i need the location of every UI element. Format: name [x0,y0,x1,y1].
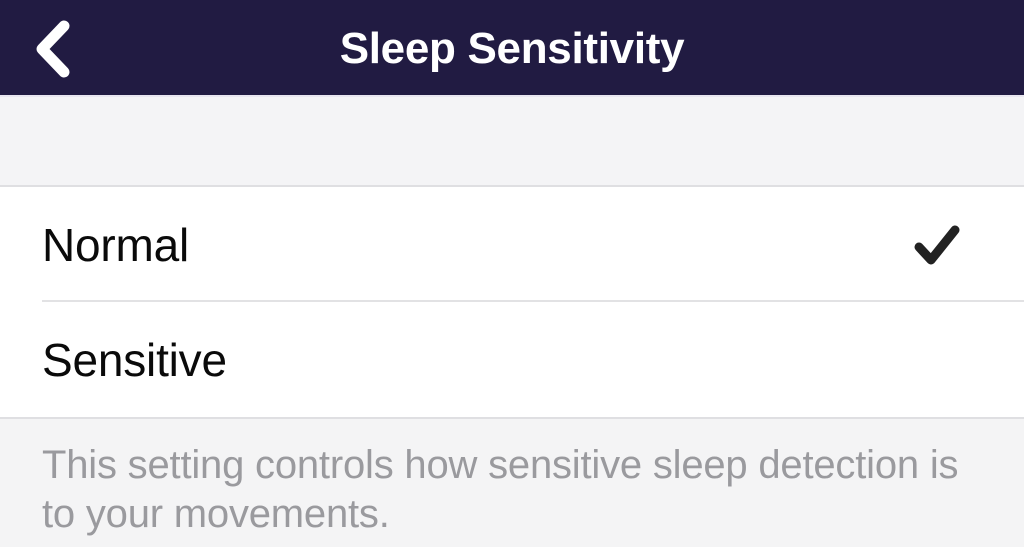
check-icon [908,216,966,274]
option-label: Sensitive [42,337,908,383]
footer-note: This setting controls how sensitive slee… [0,419,1024,547]
page-title: Sleep Sensitivity [220,27,805,71]
footer-description: This setting controls how sensitive slee… [42,441,964,539]
section-spacer [0,97,1024,187]
option-label: Normal [42,222,908,268]
sleep-sensitivity-screen: Sleep Sensitivity Normal Sensitive This … [0,0,1024,547]
chevron-left-icon [31,19,77,79]
option-row-sensitive[interactable]: Sensitive [0,302,1024,417]
navbar-underline [0,95,1024,97]
option-row-normal[interactable]: Normal [0,187,1024,302]
back-button[interactable] [0,0,108,97]
navigation-bar: Sleep Sensitivity [0,0,1024,97]
sensitivity-options-list: Normal Sensitive [0,187,1024,419]
